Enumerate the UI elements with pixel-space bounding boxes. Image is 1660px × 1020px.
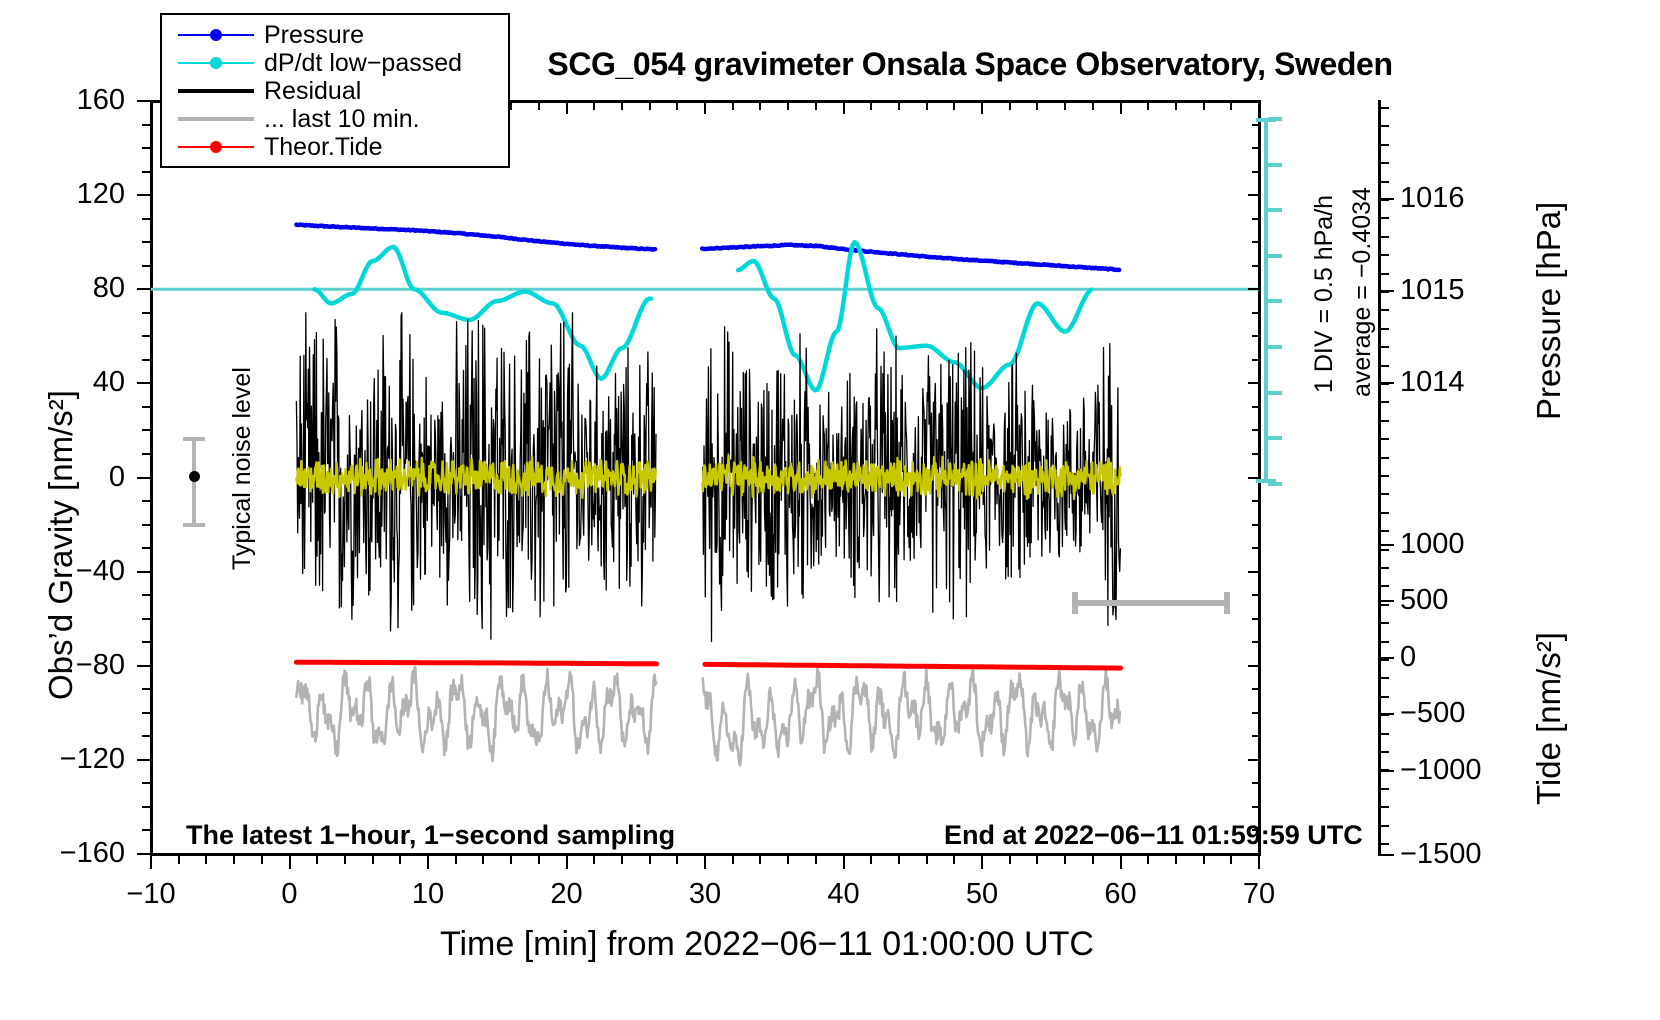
left-minor-tick [142, 406, 150, 408]
left-minor-tick [142, 782, 150, 784]
left-minor-tick [142, 618, 150, 620]
tide-tick-label: 500 [1400, 584, 1448, 617]
dpdt-scale-tick [1268, 482, 1282, 486]
top-frame-minor-tick [1147, 103, 1149, 110]
dpdt-scale-tick [1268, 345, 1282, 349]
right-frame-minor-tick [1252, 241, 1259, 243]
top-frame-minor-tick [1092, 103, 1094, 110]
pressure-minor-tick [1381, 493, 1389, 495]
pressure-minor-tick [1381, 309, 1389, 311]
right-frame-minor-tick [1252, 312, 1259, 314]
bottom-tick-label: 70 [1199, 878, 1319, 911]
left-tick [137, 194, 150, 196]
right-frame-minor-tick [1252, 406, 1259, 408]
right-frame-minor-tick [1252, 335, 1259, 337]
right-frame-minor-tick [1252, 806, 1259, 808]
right-frame-tick [1248, 194, 1259, 196]
left-minor-tick [142, 429, 150, 431]
bottom-minor-tick [1203, 856, 1205, 864]
bottom-minor-tick [1147, 856, 1149, 864]
bottom-tick [843, 856, 845, 869]
bottom-minor-tick [732, 856, 734, 864]
pressure-minor-tick [1381, 107, 1389, 109]
dpdt-scale-tick [1268, 208, 1282, 212]
pressure-minor-tick [1381, 641, 1389, 643]
legend-swatch-icon [174, 49, 258, 77]
bottom-tick [1120, 856, 1122, 869]
pressure-minor-tick [1381, 604, 1389, 606]
left-tick-label: 80 [5, 272, 125, 305]
left-tick [137, 665, 150, 667]
bottom-minor-tick [372, 856, 374, 864]
bottom-tick [150, 856, 152, 869]
legend-item-4: Theor.Tide [174, 133, 508, 161]
tide-tick-label: 1000 [1400, 528, 1465, 561]
ten-minute-span-cap-right [1224, 592, 1230, 614]
theoretical-tide-curve [296, 662, 1120, 668]
left-minor-tick [142, 712, 150, 714]
left-minor-tick [142, 218, 150, 220]
pressure-minor-tick [1381, 383, 1389, 385]
bottom-tick-label: 50 [922, 878, 1042, 911]
pressure-minor-tick [1381, 420, 1389, 422]
legend-swatch-icon [174, 133, 258, 161]
bottom-tick [566, 856, 568, 869]
right-frame-minor-tick [1252, 124, 1259, 126]
pressure-minor-tick [1381, 162, 1389, 164]
legend-item-2: Residual [174, 77, 508, 105]
left-minor-tick [142, 735, 150, 737]
pressure-minor-tick [1381, 512, 1389, 514]
left-minor-tick [142, 829, 150, 831]
bottom-minor-tick [482, 856, 484, 864]
pressure-axis-title: Pressure [hPa] [1530, 202, 1568, 420]
pressure-minor-tick [1381, 401, 1389, 403]
legend-swatch-icon [174, 105, 258, 133]
bottom-minor-tick [649, 856, 651, 864]
bottom-tick [1258, 856, 1260, 869]
bottom-minor-tick [676, 856, 678, 864]
right-frame-minor-tick [1252, 500, 1259, 502]
top-frame-minor-tick [815, 103, 817, 110]
pressure-minor-tick [1381, 217, 1389, 219]
bottom-minor-tick [926, 856, 928, 864]
y-axis-title: Obs’d Gravity [nm/s²] [42, 390, 80, 700]
legend-label: Pressure [258, 21, 364, 50]
tide-tick [1381, 544, 1394, 546]
right-frame-minor-tick [1252, 453, 1259, 455]
left-minor-tick [142, 594, 150, 596]
left-minor-tick [142, 806, 150, 808]
noise-error-cap-top [183, 437, 205, 441]
bottom-tick [427, 856, 429, 869]
pressure-minor-tick [1381, 328, 1389, 330]
tide-tick [1381, 854, 1394, 856]
pressure-minor-tick [1381, 696, 1389, 698]
top-frame-minor-tick [510, 103, 512, 110]
right-frame-tick [1248, 853, 1259, 855]
top-frame-minor-tick [898, 103, 900, 110]
bottom-minor-tick [233, 856, 235, 864]
top-frame-minor-tick [538, 103, 540, 110]
top-frame-minor-tick [787, 103, 789, 110]
bottom-tick-label: 40 [784, 878, 904, 911]
right-frame-tick [1248, 665, 1259, 667]
bottom-minor-tick [261, 856, 263, 864]
left-minor-tick [142, 124, 150, 126]
ten-minute-span-cap-left [1072, 592, 1078, 614]
pressure-minor-tick [1381, 346, 1389, 348]
legend: PressuredP/dt low−passedResidual... last… [160, 13, 510, 168]
legend-swatch-icon [174, 21, 258, 49]
pressure-curve [296, 225, 1119, 270]
legend-item-1: dP/dt low−passed [174, 49, 508, 77]
bottom-minor-tick [316, 856, 318, 864]
bottom-minor-tick [455, 856, 457, 864]
top-frame-minor-tick [926, 103, 928, 110]
top-frame-minor-tick [1064, 103, 1066, 110]
left-minor-tick [142, 524, 150, 526]
tide-tick-label: −1000 [1400, 754, 1481, 787]
top-frame-minor-tick [1203, 103, 1205, 110]
bottom-minor-tick [178, 856, 180, 864]
right-frame-minor-tick [1252, 265, 1259, 267]
right-frame-minor-tick [1252, 359, 1259, 361]
pressure-minor-tick [1381, 365, 1389, 367]
top-frame-minor-tick [621, 103, 623, 110]
legend-item-0: Pressure [174, 21, 508, 49]
top-frame-minor-tick [953, 103, 955, 110]
right-frame-minor-tick [1252, 618, 1259, 620]
legend-item-3: ... last 10 min. [174, 105, 508, 133]
bottom-minor-tick [953, 856, 955, 864]
right-frame-tick [1248, 571, 1259, 573]
left-tick-label: −120 [5, 743, 125, 776]
dpdt-scale-tick [1268, 117, 1282, 121]
left-minor-tick [142, 265, 150, 267]
left-minor-tick [142, 312, 150, 314]
pressure-minor-tick [1381, 788, 1389, 790]
bottom-minor-tick [1036, 856, 1038, 864]
pressure-minor-tick [1381, 438, 1389, 440]
bottom-minor-tick [1009, 856, 1011, 864]
bottom-minor-tick [593, 856, 595, 864]
left-tick [137, 477, 150, 479]
pressure-tick-label: 1014 [1400, 366, 1465, 399]
bottom-minor-tick [399, 856, 401, 864]
tide-tick [1381, 657, 1394, 659]
right-frame-tick [1248, 759, 1259, 761]
bottom-tick [289, 856, 291, 869]
top-frame-tick [1120, 103, 1122, 114]
tide-tick [1381, 770, 1394, 772]
pressure-minor-tick [1381, 733, 1389, 735]
pressure-minor-tick [1381, 585, 1389, 587]
bottom-minor-tick [205, 856, 207, 864]
bottom-tick [981, 856, 983, 869]
tide-tick [1381, 713, 1394, 715]
tide-tick [1381, 600, 1394, 602]
ten-minute-span-bar [1072, 600, 1230, 606]
pressure-minor-tick [1381, 549, 1389, 551]
bottom-right-annotation: End at 2022−06−11 01:59:59 UTC [944, 820, 1363, 851]
pressure-minor-tick [1381, 622, 1389, 624]
average-label: average = −0.4034 [1348, 187, 1377, 397]
chart-title: SCG_054 gravimeter Onsala Space Observat… [520, 46, 1420, 83]
noise-level-label: Typical noise level [228, 367, 257, 570]
dpdt-scale-tick [1268, 436, 1282, 440]
right-frame-minor-tick [1252, 147, 1259, 149]
pressure-minor-tick [1381, 254, 1389, 256]
top-frame-minor-tick [870, 103, 872, 110]
right-frame-minor-tick [1252, 688, 1259, 690]
bottom-tick-label: −10 [91, 878, 211, 911]
pressure-minor-tick [1381, 843, 1389, 845]
bottom-minor-tick [1175, 856, 1177, 864]
top-frame-tick [1258, 103, 1260, 114]
pressure-minor-tick [1381, 530, 1389, 532]
bottom-tick-label: 10 [368, 878, 488, 911]
last-ten-minutes-curve [296, 667, 1120, 766]
pressure-minor-tick [1381, 825, 1389, 827]
right-frame-minor-tick [1252, 547, 1259, 549]
pressure-minor-tick [1381, 236, 1389, 238]
bottom-minor-tick [1064, 856, 1066, 864]
pressure-tick-label: 1015 [1400, 274, 1465, 307]
right-frame-minor-tick [1252, 171, 1259, 173]
left-minor-tick [142, 453, 150, 455]
bottom-minor-tick [1092, 856, 1094, 864]
left-minor-tick [142, 147, 150, 149]
left-tick [137, 382, 150, 384]
right-frame-minor-tick [1252, 429, 1259, 431]
legend-label: dP/dt low−passed [258, 49, 462, 78]
left-minor-tick [142, 547, 150, 549]
top-frame-tick [566, 103, 568, 114]
right-frame-minor-tick [1252, 712, 1259, 714]
top-frame-minor-tick [759, 103, 761, 110]
noise-error-bar [192, 437, 196, 527]
pressure-minor-tick [1381, 291, 1389, 293]
pressure-minor-tick [1381, 659, 1389, 661]
legend-label: Residual [258, 77, 361, 106]
pressure-minor-tick [1381, 475, 1389, 477]
tide-axis-title: Tide [nm/s²] [1530, 632, 1568, 805]
bottom-tick-label: 60 [1061, 878, 1181, 911]
pressure-minor-tick [1381, 144, 1389, 146]
top-frame-minor-tick [593, 103, 595, 110]
bottom-minor-tick [759, 856, 761, 864]
bottom-tick-label: 20 [507, 878, 627, 911]
bottom-minor-tick [510, 856, 512, 864]
top-frame-tick [704, 103, 706, 114]
left-minor-tick [142, 335, 150, 337]
dpdt-scale-tick [1268, 391, 1282, 395]
top-frame-minor-tick [676, 103, 678, 110]
top-frame-tick [843, 103, 845, 114]
top-frame-tick [150, 103, 152, 114]
bottom-minor-tick [787, 856, 789, 864]
pressure-minor-tick [1381, 199, 1389, 201]
dpdt-scale-tick [1268, 163, 1282, 167]
left-tick-label: 120 [5, 178, 125, 211]
bottom-minor-tick [344, 856, 346, 864]
right-frame-minor-tick [1252, 524, 1259, 526]
left-tick [137, 571, 150, 573]
top-frame-minor-tick [649, 103, 651, 110]
bottom-tick-label: 30 [645, 878, 765, 911]
bottom-minor-tick [898, 856, 900, 864]
left-minor-tick [142, 641, 150, 643]
pressure-minor-tick [1381, 125, 1389, 127]
bottom-minor-tick [538, 856, 540, 864]
left-tick [137, 288, 150, 290]
pressure-minor-tick [1381, 567, 1389, 569]
right-frame-minor-tick [1252, 782, 1259, 784]
pressure-minor-tick [1381, 457, 1389, 459]
right-frame-tick [1248, 288, 1259, 290]
right-frame-tick [1248, 382, 1259, 384]
pressure-minor-tick [1381, 273, 1389, 275]
noise-error-cap-bottom [183, 523, 205, 527]
right-frame-minor-tick [1252, 735, 1259, 737]
legend-swatch-icon [174, 77, 258, 105]
tide-tick-label: −500 [1400, 697, 1465, 730]
noise-center-dot [189, 471, 200, 482]
div-scale-label: 1 DIV = 0.5 hPa/h [1310, 195, 1339, 393]
top-frame-minor-tick [1036, 103, 1038, 110]
bottom-minor-tick [870, 856, 872, 864]
top-frame-minor-tick [1175, 103, 1177, 110]
left-minor-tick [142, 500, 150, 502]
left-tick [137, 853, 150, 855]
dpdt-scale-tick [1268, 254, 1282, 258]
left-minor-tick [142, 688, 150, 690]
pressure-minor-tick [1381, 677, 1389, 679]
left-minor-tick [142, 359, 150, 361]
pressure-tick-label: 1016 [1400, 182, 1465, 215]
top-frame-tick [981, 103, 983, 114]
right-frame-tick [1248, 100, 1259, 102]
bottom-tick-label: 0 [230, 878, 350, 911]
top-frame-minor-tick [1009, 103, 1011, 110]
right-frame-minor-tick [1252, 594, 1259, 596]
x-axis-title: Time [min] from 2022−06−11 01:00:00 UTC [440, 925, 1094, 964]
left-minor-tick [142, 241, 150, 243]
pressure-minor-tick [1381, 806, 1389, 808]
bottom-minor-tick [621, 856, 623, 864]
right-frame-minor-tick [1252, 641, 1259, 643]
left-tick-label: 160 [5, 84, 125, 117]
bottom-minor-tick [815, 856, 817, 864]
bottom-left-annotation: The latest 1−hour, 1−second sampling [186, 820, 675, 851]
chart-root: SCG_054 gravimeter Onsala Space Observat… [0, 0, 1660, 1020]
top-frame-minor-tick [732, 103, 734, 110]
legend-label: Theor.Tide [258, 133, 383, 162]
tide-tick-label: 0 [1400, 641, 1416, 674]
left-minor-tick [142, 171, 150, 173]
tide-tick-label: −1500 [1400, 838, 1481, 871]
bottom-tick [704, 856, 706, 869]
left-tick-label: −160 [5, 837, 125, 870]
right-frame-minor-tick [1252, 218, 1259, 220]
left-tick [137, 100, 150, 102]
dpdt-scale-tick [1268, 299, 1282, 303]
top-frame-minor-tick [1230, 103, 1232, 110]
bottom-minor-tick [1230, 856, 1232, 864]
pressure-minor-tick [1381, 751, 1389, 753]
left-tick [137, 759, 150, 761]
pressure-minor-tick [1381, 181, 1389, 183]
legend-label: ... last 10 min. [258, 105, 420, 134]
